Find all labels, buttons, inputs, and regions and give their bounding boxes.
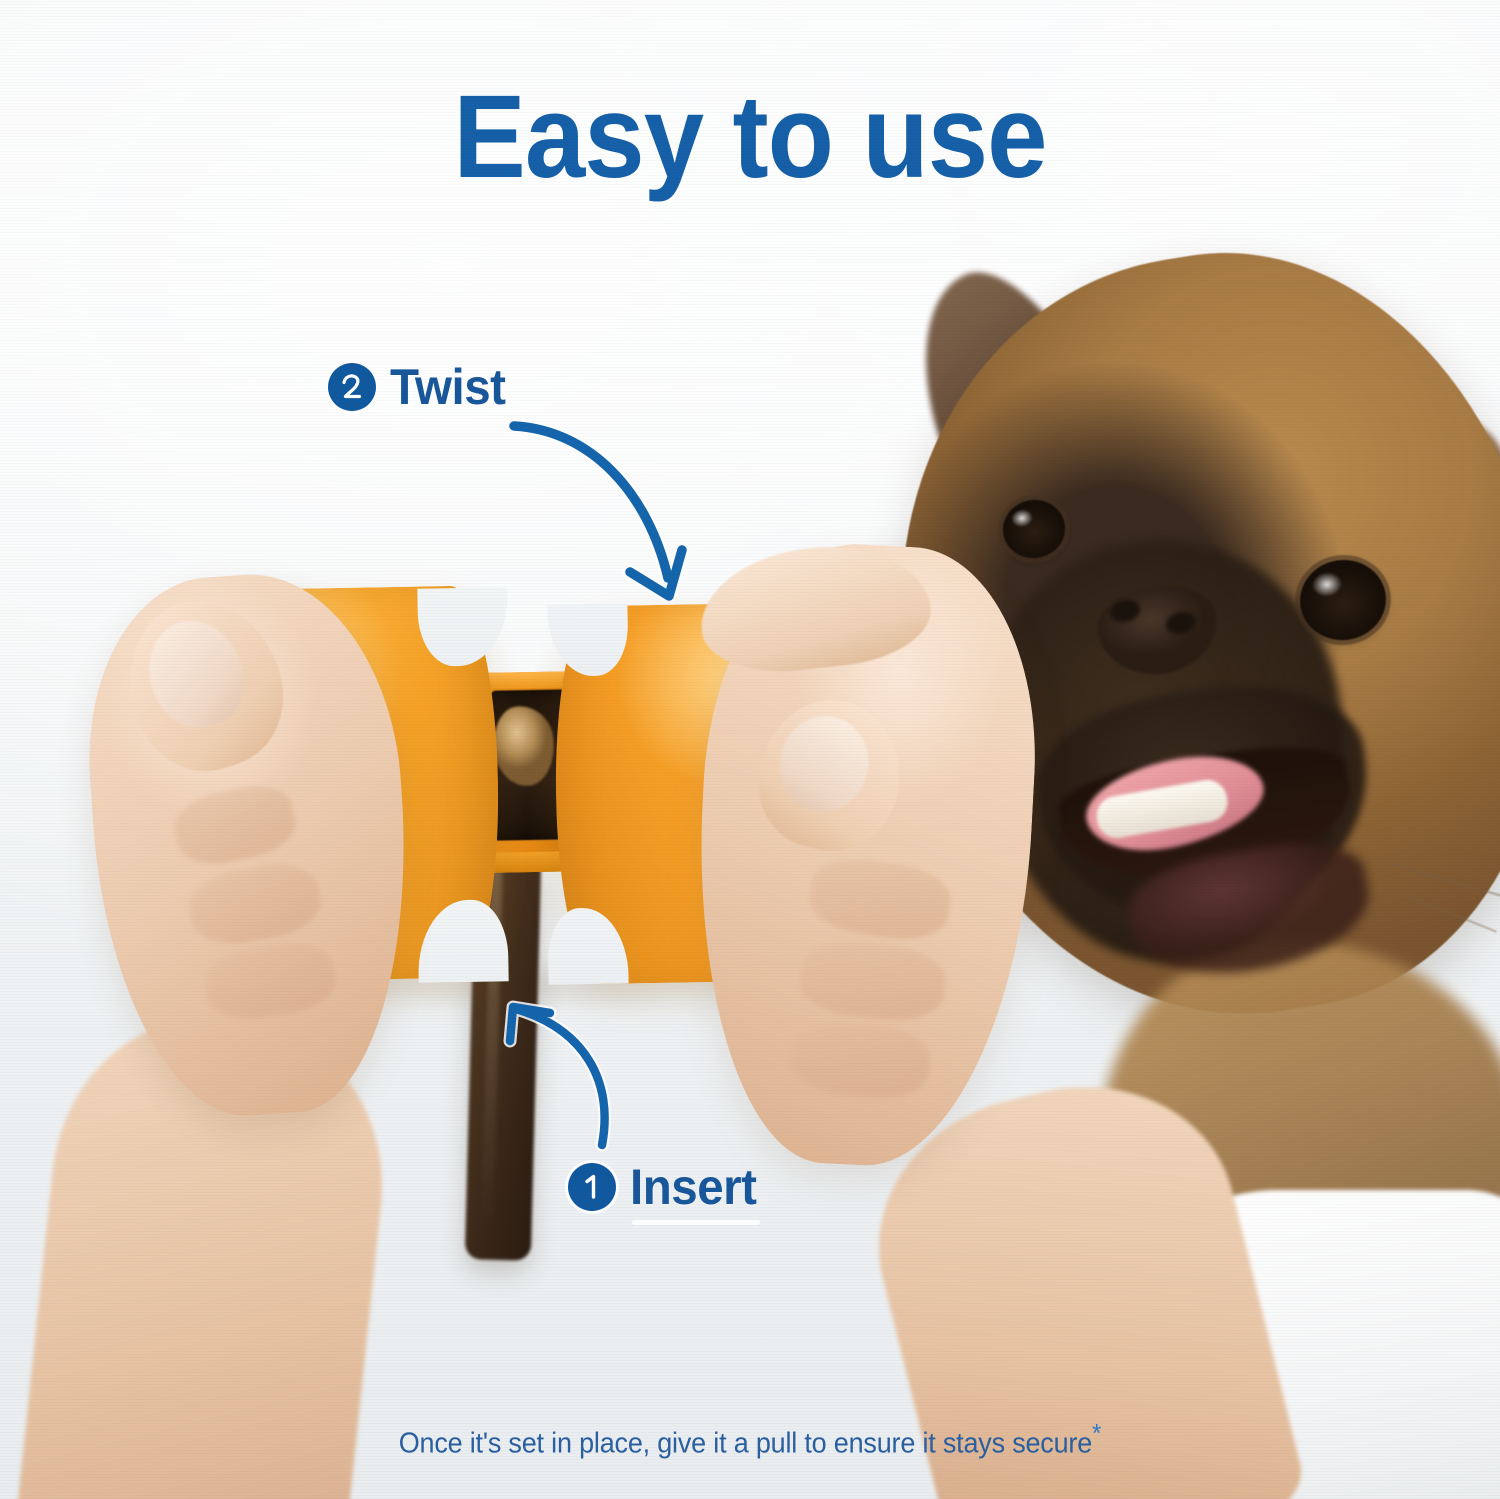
product-instruction-image: chewies Easy to use Twist [0, 0, 1500, 1499]
page-title: Easy to use [60, 78, 1440, 196]
number-two-badge-icon [328, 363, 376, 411]
step-twist: Twist [328, 358, 512, 416]
footer-caption-asterisk: * [1092, 1418, 1101, 1448]
footer-caption-text: Once it's set in place, give it a pull t… [399, 1428, 1092, 1460]
step-insert: Insert [568, 1158, 763, 1216]
number-one-badge-icon [568, 1163, 616, 1211]
step-insert-label: Insert [630, 1158, 757, 1216]
footer-caption: Once it's set in place, give it a pull t… [53, 1418, 1448, 1461]
step-twist-label: Twist [390, 358, 505, 416]
